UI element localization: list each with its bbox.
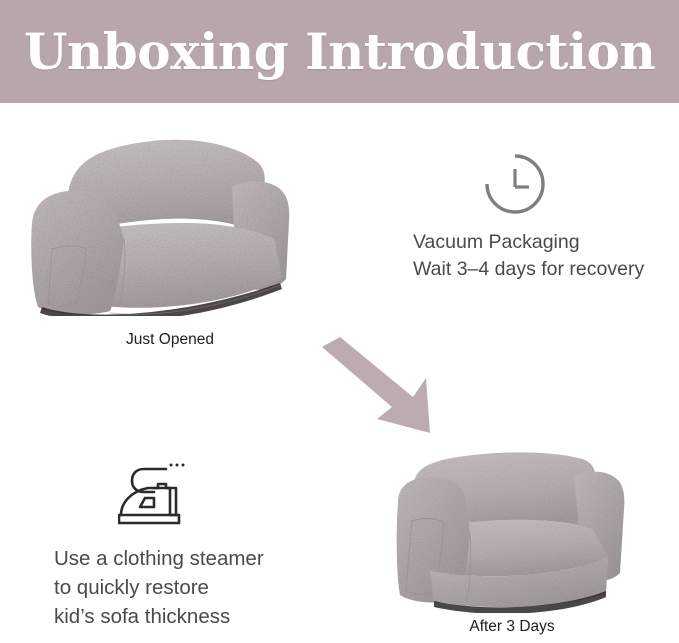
steamer-instruction-text-block: Use a clothing steamer to quickly restor… (54, 544, 314, 631)
sofa-after-3-days-illustration (396, 437, 628, 613)
sofa-after-3-days-caption: After 3 Days (396, 618, 628, 636)
page-title: Unboxing Introduction (0, 0, 679, 103)
arrow-down-right-icon (318, 337, 436, 437)
sofa-after-3-days-image (396, 437, 628, 613)
vacuum-packaging-line-1: Vacuum Packaging (413, 229, 679, 256)
vacuum-packaging-line-2: Wait 3–4 days for recovery (413, 256, 679, 283)
steamer-instruction-line-2: to quickly restore (54, 573, 314, 602)
steamer-instruction-line-3: kid’s sofa thickness (54, 602, 314, 631)
sofa-just-opened-image (24, 131, 316, 316)
clock-icon (484, 152, 548, 216)
steamer-instruction-line-1: Use a clothing steamer (54, 544, 314, 573)
sofa-just-opened-caption: Just Opened (24, 331, 316, 349)
clothing-iron-icon (118, 455, 206, 531)
unboxing-introduction-page: Unboxing Introduction (0, 0, 679, 643)
vacuum-packaging-text-block: Vacuum Packaging Wait 3–4 days for recov… (413, 229, 679, 283)
sofa-just-opened-illustration (24, 131, 316, 316)
